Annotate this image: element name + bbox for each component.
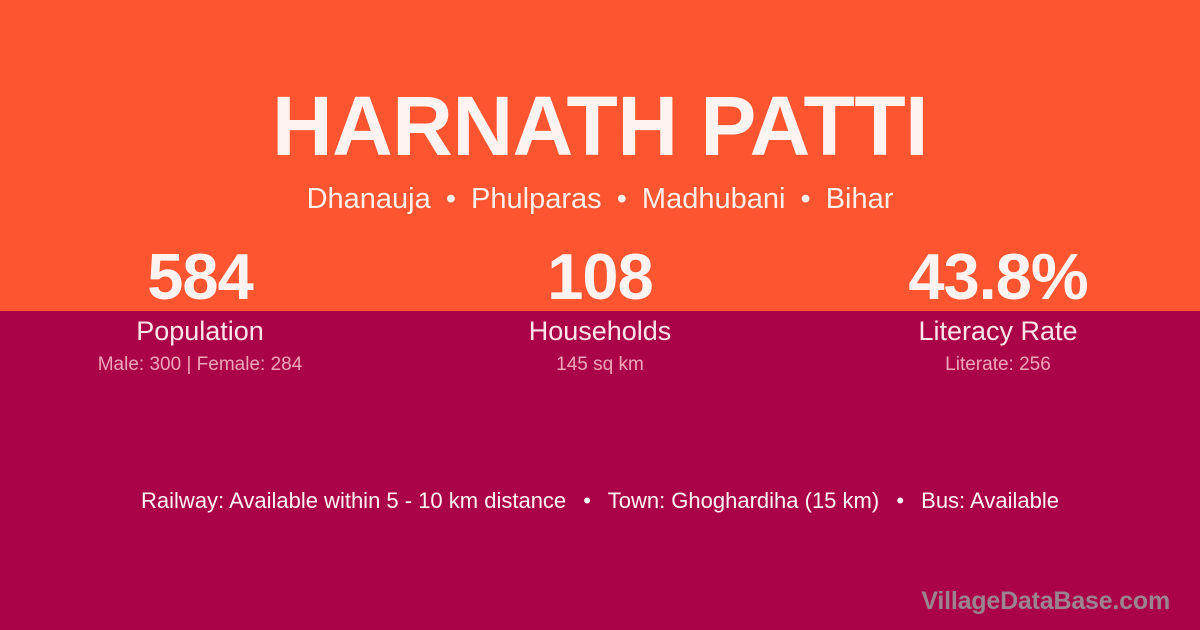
breadcrumb-separator-3: • bbox=[793, 183, 817, 215]
page-title: HARNATH PATTI bbox=[0, 80, 1200, 172]
stat-literacy-value: 43.8% bbox=[798, 243, 1198, 311]
breadcrumb-state: Bihar bbox=[826, 183, 894, 215]
stat-population: 584 Population Male: 300 | Female: 284 bbox=[0, 243, 400, 377]
stat-households-label: Households bbox=[400, 314, 800, 348]
amenity-town: Town: Ghoghardiha (15 km) bbox=[608, 488, 879, 513]
breadcrumb-block: Phulparas bbox=[471, 183, 602, 215]
stat-households-sub: 145 sq km bbox=[400, 353, 800, 377]
stat-population-label: Population bbox=[0, 314, 400, 348]
stat-households: 108 Households 145 sq km bbox=[400, 243, 800, 377]
amenity-separator-1: • bbox=[572, 488, 602, 513]
amenity-bus: Bus: Available bbox=[921, 488, 1059, 513]
stat-literacy-sub: Literate: 256 bbox=[798, 353, 1198, 377]
stat-literacy-label: Literacy Rate bbox=[798, 314, 1198, 348]
site-watermark: VillageDataBase.com bbox=[921, 586, 1170, 616]
breadcrumb-district: Madhubani bbox=[642, 183, 786, 215]
stat-population-sub: Male: 300 | Female: 284 bbox=[0, 353, 400, 377]
breadcrumb-separator-1: • bbox=[439, 183, 463, 215]
stat-households-value: 108 bbox=[400, 243, 800, 311]
stats-row: 584 Population Male: 300 | Female: 284 1… bbox=[0, 243, 1200, 377]
stat-population-value: 584 bbox=[0, 243, 400, 311]
breadcrumb-separator-2: • bbox=[610, 183, 634, 215]
amenities-summary: Railway: Available within 5 - 10 km dist… bbox=[0, 486, 1200, 516]
village-info-card: HARNATH PATTI Dhanauja • Phulparas • Mad… bbox=[0, 0, 1200, 630]
amenity-railway: Railway: Available within 5 - 10 km dist… bbox=[141, 488, 566, 513]
amenity-separator-2: • bbox=[885, 488, 915, 513]
stat-literacy: 43.8% Literacy Rate Literate: 256 bbox=[798, 243, 1198, 377]
breadcrumb-village: Dhanauja bbox=[307, 183, 431, 215]
breadcrumb: Dhanauja • Phulparas • Madhubani • Bihar bbox=[0, 181, 1200, 217]
